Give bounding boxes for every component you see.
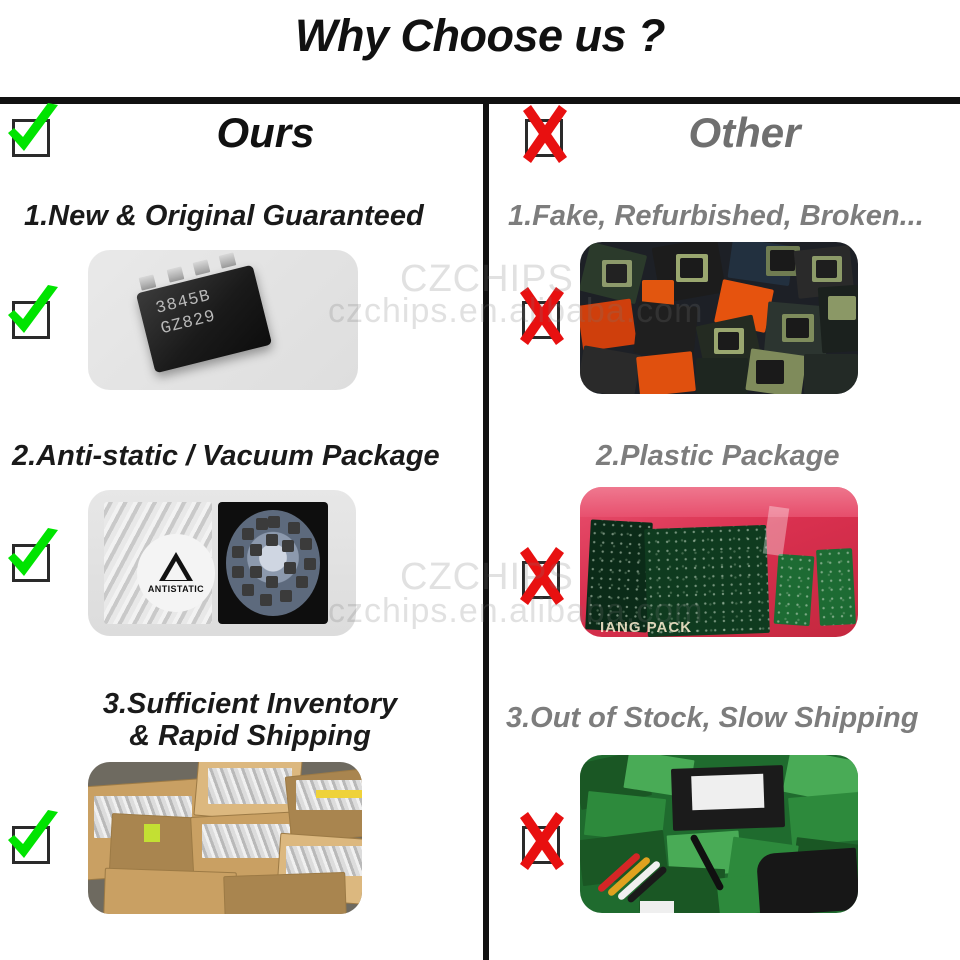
tape-reel [218,502,328,624]
cross-glyph [514,810,572,872]
row-3-left-photo [88,762,362,914]
row-1-left-text: 1.New & Original Guaranteed [24,200,424,232]
row-2-right-text: 2.Plastic Package [596,440,839,472]
page-title: Why Choose us ? [0,10,960,62]
high-voltage-warning-icon [159,552,193,581]
row-3-right-text: 3.Out of Stock, Slow Shipping [506,702,918,734]
check-glyph [4,528,62,590]
column-header-other: Other [489,105,960,175]
row-1-left-photo: 3845B GZ829 [88,250,358,390]
row-1-right-cross-icon [518,295,562,341]
check-glyph [4,810,62,872]
module-label [691,774,764,810]
row-3-left-text: 3.Sufficient Inventory & Rapid Shipping [50,688,450,753]
antistatic-package-photo: ANTISTATIC [88,490,356,636]
row-3-left-check-icon [8,820,52,866]
cross-glyph [514,285,572,347]
row-3-left-text-line2: & Rapid Shipping [50,720,450,752]
row-2-right-cross-icon [518,555,562,601]
row-2-left-photo: ANTISTATIC [88,490,356,636]
pack-label-text: IANG PACK [600,619,692,636]
antistatic-bag: ANTISTATIC [104,502,212,624]
reel-disc [226,510,320,616]
column-label-other: Other [489,109,960,157]
scrap-chips-photo [580,242,858,394]
inventory-boxes-photo [88,762,362,914]
comparison-row-3: 3.Sufficient Inventory & Rapid Shipping [0,680,960,930]
antistatic-label-text: ANTISTATIC [148,584,204,594]
column-header-ours: Ours [0,105,483,175]
row-1-right-photo [580,242,858,394]
row-2-right-photo: IANG PACK [580,487,858,637]
row-2-left-check-icon [8,538,52,584]
row-1-left-check-icon [8,295,52,341]
antistatic-label: ANTISTATIC [137,534,215,612]
comparison-row-1: 1.New & Original Guaranteed 3845B GZ [0,185,960,420]
plastic-package-photo: IANG PACK [580,487,858,637]
comparison-row-2: 2.Anti-static / Vacuum Package ANTISTATI… [0,430,960,660]
pcb-scrap-photo [580,755,858,913]
header-divider [0,97,960,104]
chip-photo: 3845B GZ829 [88,250,358,390]
row-3-right-cross-icon [518,820,562,866]
column-label-ours: Ours [0,109,483,157]
row-1-right-text: 1.Fake, Refurbished, Broken... [508,200,924,232]
row-3-right-photo [580,755,858,913]
check-glyph [4,285,62,347]
row-2-left-text: 2.Anti-static / Vacuum Package [12,440,440,472]
black-module [671,765,785,831]
why-choose-us-infographic: Why Choose us ? Ours Other 1.New & Origi… [0,0,960,960]
row-3-left-text-line1: 3.Sufficient Inventory [50,688,450,720]
cross-glyph [514,545,572,607]
